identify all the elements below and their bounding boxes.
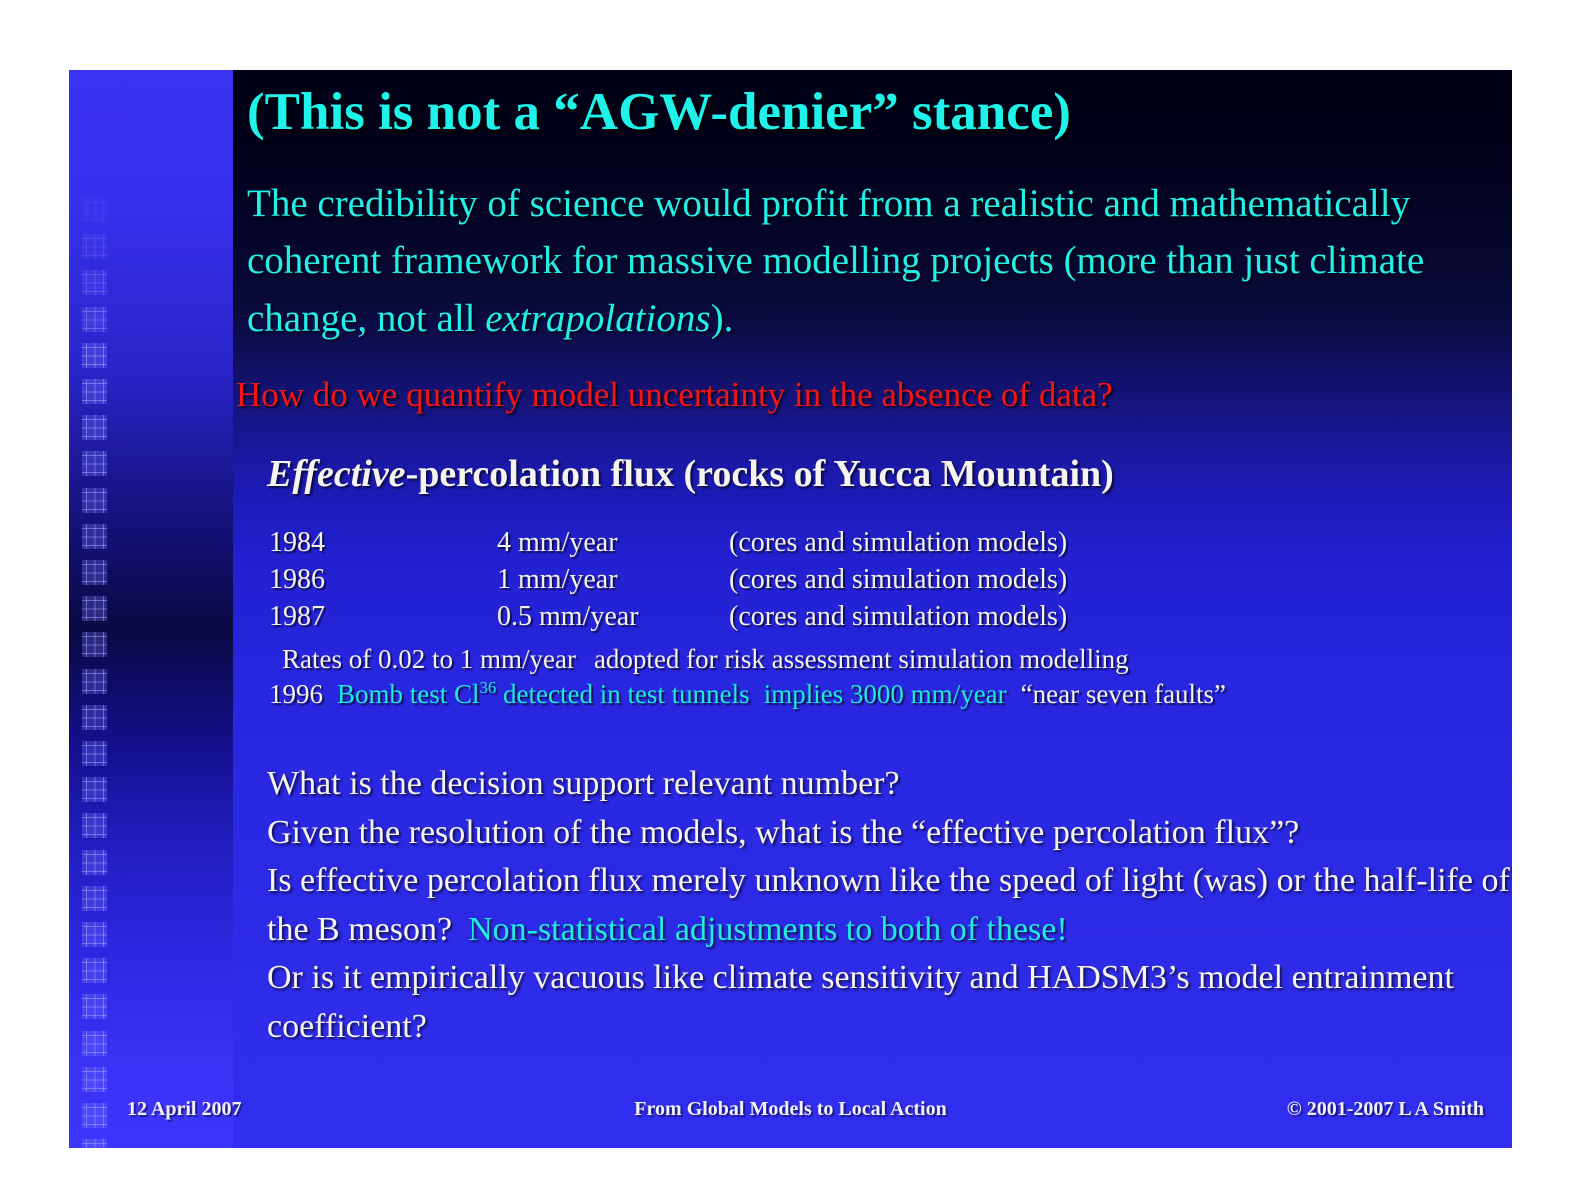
closing-line-1: What is the decision support relevant nu… xyxy=(267,760,1512,809)
sidebar-grid-square xyxy=(82,994,107,1019)
intro-text-part1: The credibility of science would profit … xyxy=(247,182,1424,340)
sidebar-grid-square xyxy=(82,886,107,911)
intro-emphasis: extrapolations xyxy=(485,297,710,340)
sidebar-grid-square xyxy=(82,777,107,802)
closing-questions: What is the decision support relevant nu… xyxy=(267,760,1512,1052)
sidebar-grid-square xyxy=(82,596,107,621)
decorative-sidebar xyxy=(69,70,233,1148)
table-cell-year: 1987 xyxy=(269,599,497,636)
bomb-test-line: 1996Bomb test Cl36 detected in test tunn… xyxy=(269,678,1226,710)
sidebar-grid-square xyxy=(82,741,107,766)
table-cell-rate: 4 mm/year xyxy=(497,525,729,562)
adopted-rates-line: Rates of 0.02 to 1 mm/yearadopted for ri… xyxy=(282,644,1129,675)
bomb-line-cyan-b: detected in test tunnels xyxy=(496,679,749,709)
table-cell-source: (cores and simulation models) xyxy=(729,562,1067,599)
sidebar-grid-square xyxy=(82,669,107,694)
flux-measurements-table: 1984 4 mm/year (cores and simulation mod… xyxy=(269,525,1067,636)
closing-line-4: Or is it empirically vacuous like climat… xyxy=(267,954,1512,1051)
sidebar-grid-square xyxy=(82,705,107,730)
sidebar-grid-square xyxy=(82,198,107,223)
table-cell-rate: 0.5 mm/year xyxy=(497,599,729,636)
table-row: 1984 4 mm/year (cores and simulation mod… xyxy=(269,525,1067,562)
sidebar-grid-square xyxy=(82,379,107,404)
sidebar-grid-square xyxy=(82,850,107,875)
adopted-rates-note: adopted for risk assessment simulation m… xyxy=(594,644,1129,674)
sidebar-grid-square xyxy=(82,813,107,838)
table-cell-year: 1986 xyxy=(269,562,497,599)
footer-presentation-title: From Global Models to Local Action xyxy=(634,1098,946,1121)
table-cell-source: (cores and simulation models) xyxy=(729,525,1067,562)
sidebar-grid-square xyxy=(82,632,107,657)
page-title: (This is not a “AGW-denier” stance) xyxy=(247,84,1071,140)
sidebar-grid-square xyxy=(82,451,107,476)
footer-copyright: © 2001-2007 L A Smith xyxy=(1287,1098,1484,1121)
slide-footer: 12 April 2007 From Global Models to Loca… xyxy=(69,1052,1512,1148)
table-cell-rate: 1 mm/year xyxy=(497,562,729,599)
bomb-line-tail: “near seven faults” xyxy=(1021,679,1226,709)
sidebar-grid-square xyxy=(82,560,107,585)
sidebar-grid-square xyxy=(82,307,107,332)
table-cell-year: 1984 xyxy=(269,525,497,562)
adopted-rates-range: Rates of 0.02 to 1 mm/year xyxy=(282,644,576,674)
bomb-line-cyan-a: Bomb test Cl xyxy=(337,679,480,709)
intro-paragraph: The credibility of science would profit … xyxy=(247,175,1467,347)
closing-line-3-highlight: Non-statistical adjustments to both of t… xyxy=(468,911,1068,948)
sidebar-grid-square xyxy=(82,488,107,513)
flux-heading: Effective-percolation flux (rocks of Yuc… xyxy=(267,452,1114,496)
sidebar-grid-square xyxy=(82,922,107,947)
table-cell-source: (cores and simulation models) xyxy=(729,599,1067,636)
sidebar-grid-square xyxy=(82,524,107,549)
intro-text-part2: ). xyxy=(711,297,734,340)
slide: (This is not a “AGW-denier” stance) The … xyxy=(69,70,1512,1148)
closing-line-2: Given the resolution of the models, what… xyxy=(267,809,1512,858)
bomb-line-year: 1996 xyxy=(269,679,323,709)
closing-line-3: Is effective percolation flux merely unk… xyxy=(267,857,1512,954)
red-question-line: How do we quantify model uncertainty in … xyxy=(236,375,1113,415)
sidebar-grid-square xyxy=(82,415,107,440)
sidebar-grid-square xyxy=(82,270,107,295)
flux-heading-rest: -percolation flux (rocks of Yucca Mounta… xyxy=(406,453,1114,495)
table-row: 1987 0.5 mm/year (cores and simulation m… xyxy=(269,599,1067,636)
flux-heading-emphasis: Effective xyxy=(267,453,406,495)
sidebar-grid-square xyxy=(82,958,107,983)
table-row: 1986 1 mm/year (cores and simulation mod… xyxy=(269,562,1067,599)
bomb-line-implies: implies 3000 mm/year xyxy=(764,679,1007,709)
sidebar-grid-square xyxy=(82,234,107,259)
chlorine-36-superscript: 36 xyxy=(480,678,497,697)
footer-date: 12 April 2007 xyxy=(127,1098,241,1121)
sidebar-grid-square xyxy=(82,343,107,368)
